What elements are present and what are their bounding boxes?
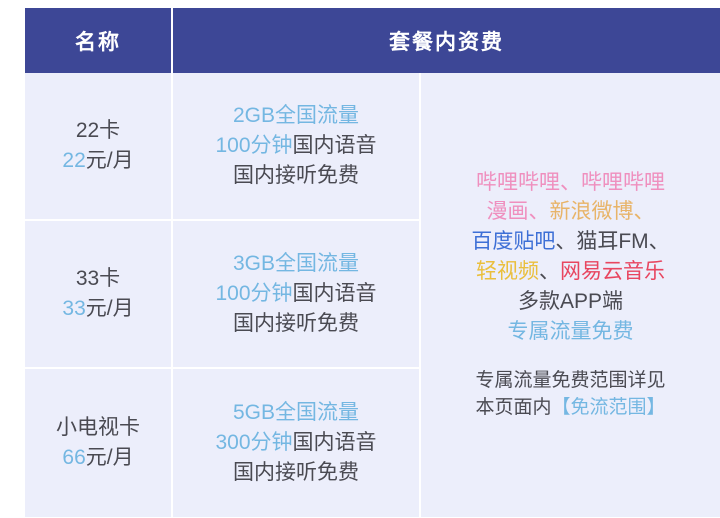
plan-voice-amount-2: 100分钟 [215, 282, 292, 305]
plan-voice-3: 300分钟国内语音 [179, 428, 413, 458]
app-bilibili-comic-part2: 漫画 [487, 200, 529, 223]
card-price-1: 22元/月 [31, 146, 165, 176]
plan-voice-amount-3: 300分钟 [215, 431, 292, 454]
plan-voice-rest-3: 国内语音 [293, 431, 377, 454]
tariff-sheet: 名称 套餐内资费 22卡 22元/月 2GB全国流量 100分钟国内语音 国内接… [0, 0, 720, 518]
plan-incoming-1: 国内接听免费 [179, 161, 413, 191]
cell-card-name-2: 33卡 33元/月 [25, 221, 173, 369]
free-scope-link[interactable]: 【免流范围】 [552, 397, 666, 418]
card-price-amount-2: 33 [62, 297, 85, 320]
apps-line-3: 百度贴吧、猫耳FM、 [427, 227, 714, 257]
apps-sep-3b: 、 [649, 230, 670, 253]
cell-plan-details-3: 5GB全国流量 300分钟国内语音 国内接听免费 [173, 369, 421, 517]
plan-data-2: 3GB全国流量 [179, 249, 413, 279]
card-price-amount-1: 22 [62, 149, 85, 172]
header-cell-plan: 套餐内资费 [173, 8, 720, 73]
plan-voice-2: 100分钟国内语音 [179, 279, 413, 309]
cell-plan-details-1: 2GB全国流量 100分钟国内语音 国内接听免费 [173, 73, 421, 221]
table-header-row: 名称 套餐内资费 [25, 8, 720, 73]
app-maoer-fm: 猫耳FM [576, 230, 648, 253]
app-bilibili: 哔哩哔哩 [476, 171, 560, 194]
apps-sep-2a: 、 [529, 200, 550, 223]
plan-data-1: 2GB全国流量 [179, 101, 413, 131]
apps-sep-4: 、 [539, 260, 560, 283]
card-price-unit-2: 元/月 [86, 297, 134, 320]
apps-sep-3: 、 [555, 230, 576, 253]
tariff-table: 名称 套餐内资费 22卡 22元/月 2GB全国流量 100分钟国内语音 国内接… [25, 8, 720, 517]
card-name-3: 小电视卡 [31, 413, 165, 443]
plan-incoming-2: 国内接听免费 [179, 309, 413, 339]
cell-card-name-3: 小电视卡 66元/月 [25, 369, 173, 517]
card-price-unit-1: 元/月 [86, 149, 134, 172]
apps-free-traffic-label: 专属流量免费 [427, 317, 714, 347]
plan-incoming-3: 国内接听免费 [179, 458, 413, 488]
apps-sep-1: 、 [560, 171, 581, 194]
cell-plan-details-2: 3GB全国流量 100分钟国内语音 国内接听免费 [173, 221, 421, 369]
table-row: 22卡 22元/月 2GB全国流量 100分钟国内语音 国内接听免费 哔哩哔哩、… [25, 73, 720, 221]
card-price-2: 33元/月 [31, 294, 165, 324]
free-apps-note: 专属流量免费范围详见 本页面内【免流范围】 [427, 368, 714, 422]
cell-free-apps: 哔哩哔哩、哔哩哔哩 漫画、新浪微博、 百度贴吧、猫耳FM、 轻视频、网易云音乐 … [421, 73, 720, 517]
table-header: 名称 套餐内资费 [25, 8, 720, 73]
free-apps-list: 哔哩哔哩、哔哩哔哩 漫画、新浪微博、 百度贴吧、猫耳FM、 轻视频、网易云音乐 … [427, 168, 714, 347]
apps-sep-2b: 、 [634, 200, 655, 223]
card-name-1: 22卡 [31, 116, 165, 146]
card-price-amount-3: 66 [62, 446, 85, 469]
plan-voice-rest-1: 国内语音 [293, 134, 377, 157]
apps-note-prefix: 本页面内 [475, 397, 551, 418]
plan-voice-1: 100分钟国内语音 [179, 131, 413, 161]
header-cell-name: 名称 [25, 8, 173, 73]
card-price-3: 66元/月 [31, 443, 165, 473]
plan-voice-rest-2: 国内语音 [293, 282, 377, 305]
apps-line-1: 哔哩哔哩、哔哩哔哩 [427, 168, 714, 198]
cell-card-name-1: 22卡 22元/月 [25, 73, 173, 221]
app-netease-music: 网易云音乐 [560, 260, 665, 283]
table-body: 22卡 22元/月 2GB全国流量 100分钟国内语音 国内接听免费 哔哩哔哩、… [25, 73, 720, 517]
apps-multi-app-label: 多款APP端 [427, 287, 714, 317]
card-name-2: 33卡 [31, 264, 165, 294]
apps-note-line-1: 专属流量免费范围详见 [427, 368, 714, 395]
apps-line-2: 漫画、新浪微博、 [427, 197, 714, 227]
apps-note-line-2: 本页面内【免流范围】 [427, 395, 714, 422]
plan-data-3: 5GB全国流量 [179, 398, 413, 428]
app-qing-video: 轻视频 [476, 260, 539, 283]
plan-voice-amount-1: 100分钟 [215, 134, 292, 157]
app-baidu-tieba: 百度贴吧 [471, 230, 555, 253]
app-sina-weibo: 新浪微博 [550, 200, 634, 223]
app-bilibili-comic-part1: 哔哩哔哩 [581, 171, 665, 194]
apps-line-4: 轻视频、网易云音乐 [427, 257, 714, 287]
card-price-unit-3: 元/月 [86, 446, 134, 469]
